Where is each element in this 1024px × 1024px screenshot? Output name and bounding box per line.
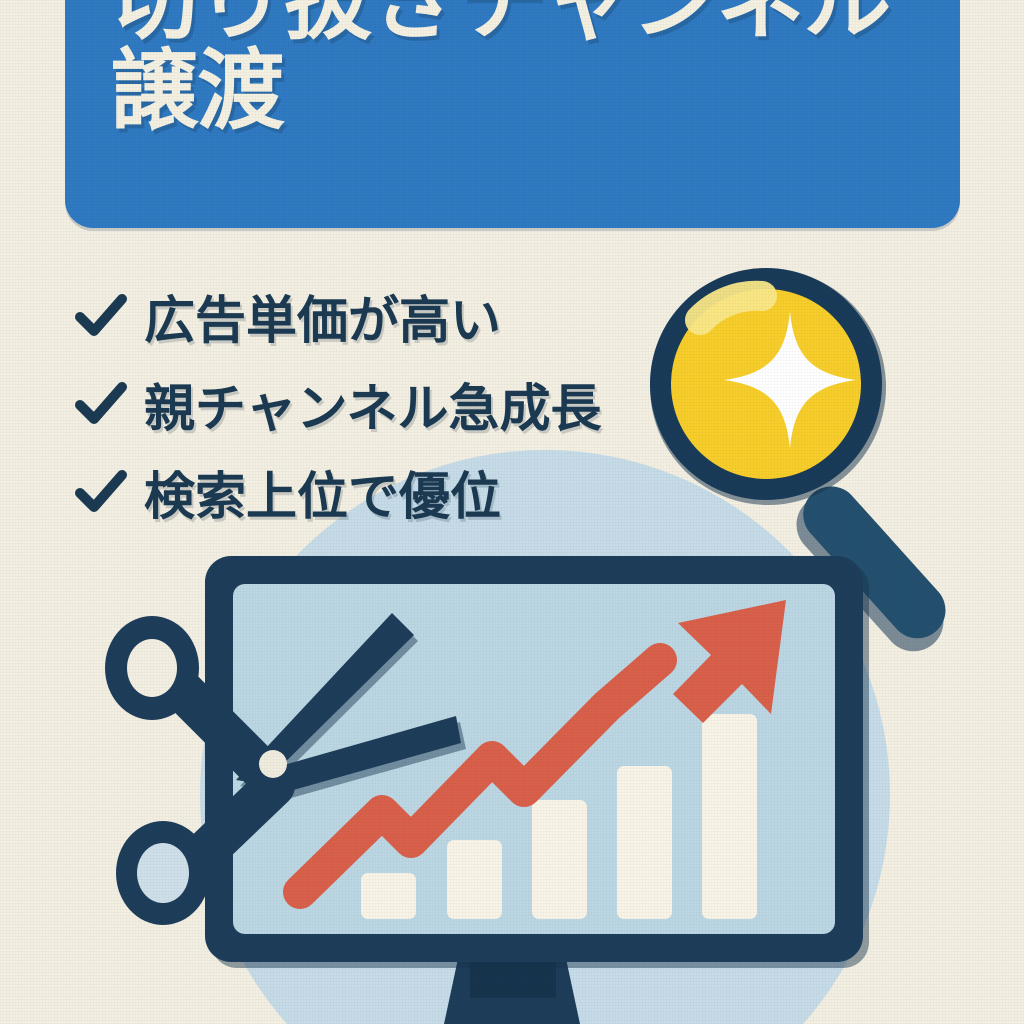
list-item: 親チャンネル急成長 (72, 360, 692, 448)
chart-bar (361, 873, 416, 919)
page-title: 切り抜きチャンネル 譲渡 (110, 0, 970, 136)
check-icon (72, 463, 130, 521)
chart-bar (447, 840, 502, 919)
list-item-label: 検索上位で優位 (144, 455, 501, 529)
list-item-label: 広告単価が高い (144, 279, 501, 353)
chart-bar (702, 714, 757, 919)
benefit-list: 広告単価が高い 親チャンネル急成長 検索上位で優位 (72, 272, 692, 536)
chart-bar (617, 766, 672, 919)
poster-canvas: 切り抜きチャンネル 譲渡 広告単価が高い 親チャンネル急成長 検索上位で優位 (0, 0, 1024, 1024)
check-icon (72, 375, 130, 433)
list-item: 検索上位で優位 (72, 448, 692, 536)
check-icon (72, 287, 130, 345)
chart-bar (532, 800, 587, 919)
list-item-label: 親チャンネル急成長 (144, 367, 601, 441)
list-item: 広告単価が高い (72, 272, 692, 360)
